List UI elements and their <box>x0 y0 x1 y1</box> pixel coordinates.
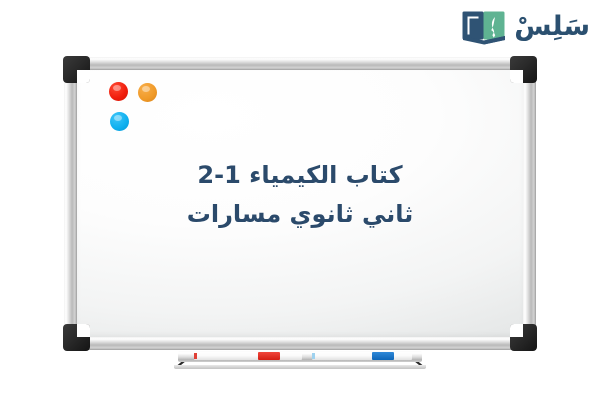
corner-bracket-bottom-right <box>510 324 537 351</box>
marker-red-tip <box>194 353 197 359</box>
marker-red-cap <box>258 352 280 360</box>
magnet-group <box>109 82 179 140</box>
corner-bracket-top-right <box>510 56 537 83</box>
marker-tray <box>172 348 428 370</box>
frame-right-bar <box>523 57 536 350</box>
marker-blue-tip <box>312 353 315 359</box>
magnet-blue-dot[interactable] <box>110 112 129 131</box>
tray-lip <box>174 365 426 369</box>
magnet-orange-dot[interactable] <box>138 83 157 102</box>
magnet-red-dot[interactable] <box>109 82 128 101</box>
frame-top-bar <box>64 57 536 70</box>
board-text-block: كتاب الكيمياء 1-2 ثاني ثانوي مسارات <box>75 156 525 234</box>
brand-wordmark: سَلِسْ <box>514 13 590 42</box>
corner-bracket-top-left <box>63 56 90 83</box>
whiteboard: كتاب الكيمياء 1-2 ثاني ثانوي مسارات <box>64 57 536 350</box>
board-surface: كتاب الكيمياء 1-2 ثاني ثانوي مسارات <box>75 68 525 339</box>
corner-bracket-bottom-left <box>63 324 90 351</box>
marker-blue-cap <box>372 352 394 360</box>
marker-red[interactable] <box>194 352 302 360</box>
open-book-icon <box>462 7 508 47</box>
board-title-line-2: ثاني ثانوي مسارات <box>75 195 525 234</box>
whiteboard-poster: سَلِسْ <box>0 0 600 400</box>
marker-blue[interactable] <box>312 352 412 360</box>
frame-left-bar <box>64 57 77 350</box>
board-title-line-1: كتاب الكيمياء 1-2 <box>75 156 525 195</box>
brand-logo: سَلِسْ <box>462 4 590 50</box>
